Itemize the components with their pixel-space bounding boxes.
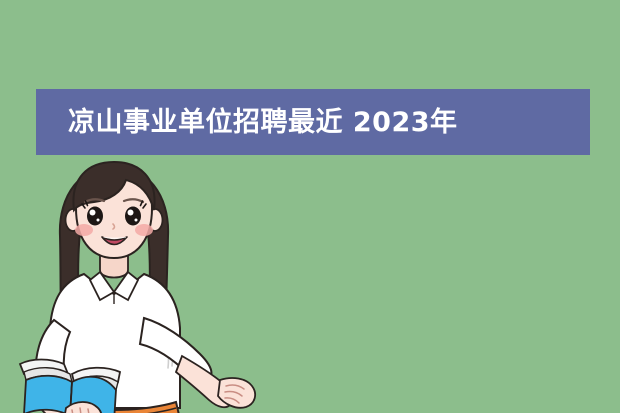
image-canvas: 凉山事业单位招聘最近 2023年 xyxy=(0,0,620,413)
title-banner: 凉山事业单位招聘最近 2023年 xyxy=(36,89,590,155)
banner-title-text: 凉山事业单位招聘最近 2023年 xyxy=(68,109,458,136)
blush-left xyxy=(75,224,93,236)
blush-right xyxy=(135,224,153,236)
cartoon-girl-illustration xyxy=(14,158,314,413)
